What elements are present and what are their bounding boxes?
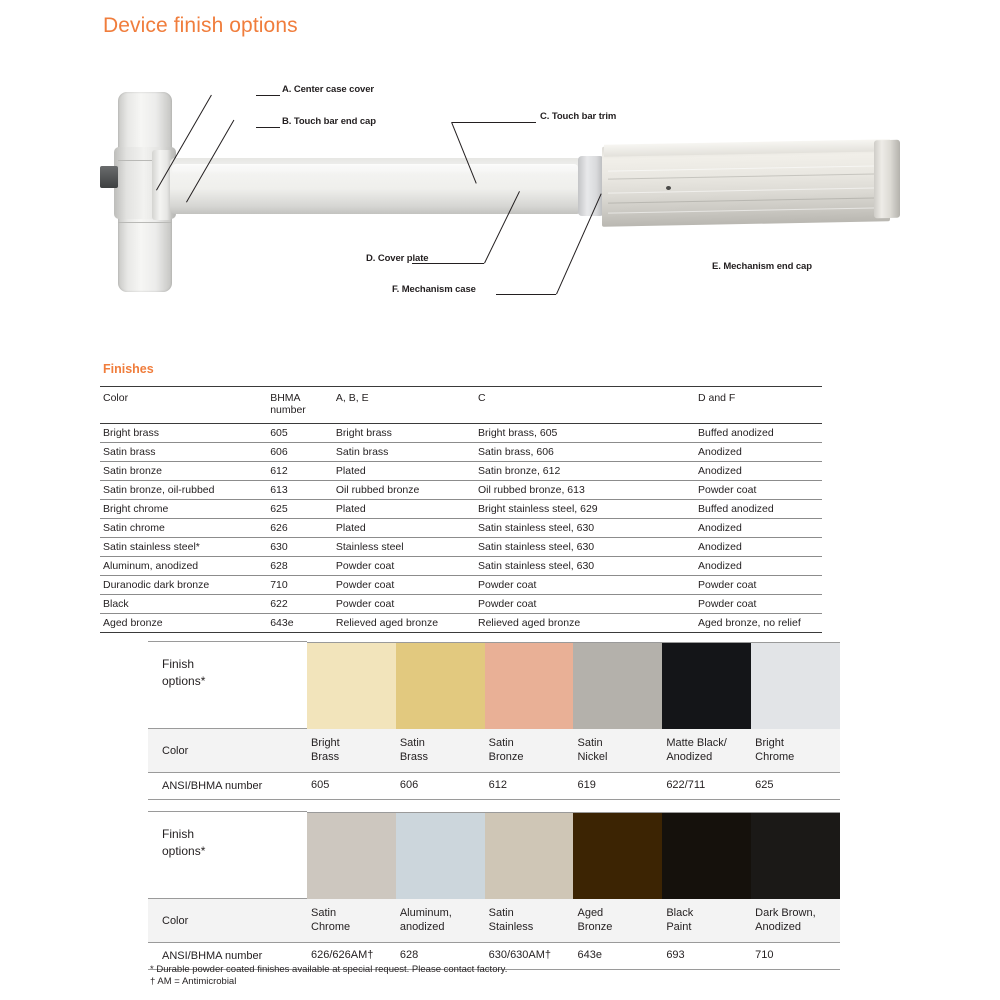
finish-ansi-number: 612 — [485, 773, 574, 799]
cell-abe: Relieved aged bronze — [333, 614, 475, 633]
cell-abe: Powder coat — [333, 576, 475, 595]
footnotes: * Durable powder coated finishes availab… — [150, 964, 507, 988]
finish-color-name: Aluminum,anodized — [396, 899, 485, 942]
finish-swatch — [751, 643, 840, 729]
finish-options-panel-2: Finish options* Color SatinChromeAluminu… — [148, 812, 840, 970]
cell-abe: Powder coat — [333, 557, 475, 576]
leader-line-c-horizontal — [452, 122, 536, 123]
lock-stub-part — [100, 166, 118, 188]
cell-c: Satin stainless steel, 630 — [475, 557, 695, 576]
column-header-bhma-line2: number — [270, 404, 306, 416]
finish-color-name-line1: Aged — [577, 906, 659, 920]
finish-color-name-line2: Stainless — [489, 920, 571, 934]
color-row-label: Color — [148, 899, 307, 942]
callout-label-f: F. Mechanism case — [392, 284, 476, 295]
finish-ansi-number: 605 — [307, 773, 396, 799]
column-header-bhma-line1: BHMA — [270, 392, 300, 404]
leader-line-b-horizontal — [256, 127, 280, 128]
footnote-asterisk: * Durable powder coated finishes availab… — [150, 964, 507, 976]
page-title: Device finish options — [103, 14, 298, 38]
finish-color-name-line2: Anodized — [755, 920, 837, 934]
cell-color: Satin chrome — [100, 519, 267, 538]
finish-color-name-line1: Satin — [489, 736, 571, 750]
cell-df: Powder coat — [695, 481, 822, 500]
panel-label-line1: Finish — [162, 656, 307, 673]
table-row: Satin bronze612PlatedSatin bronze, 612An… — [100, 462, 822, 481]
table-row: Aged bronze643eRelieved aged bronzeRelie… — [100, 614, 822, 633]
cell-abe: Satin brass — [333, 443, 475, 462]
panel-label-line2: options* — [162, 673, 307, 690]
finish-color-name: AgedBronze — [573, 899, 662, 942]
finish-options-panel-1: Finish options* Color BrightBrassSatinBr… — [148, 642, 840, 800]
callout-label-b: B. Touch bar end cap — [282, 116, 376, 127]
swatch-row: Finish options* — [148, 812, 840, 898]
finish-color-name: BrightBrass — [307, 729, 396, 772]
column-header-c: C — [475, 387, 695, 424]
finish-ansi-number: 693 — [662, 943, 751, 969]
callout-label-d: D. Cover plate — [366, 253, 428, 264]
finish-color-name-line1: Satin — [311, 906, 393, 920]
finish-color-name: Dark Brown,Anodized — [751, 899, 840, 942]
finish-color-name: SatinStainless — [485, 899, 574, 942]
cell-bhma: 643e — [267, 614, 333, 633]
cell-color: Aged bronze — [100, 614, 267, 633]
cell-bhma: 630 — [267, 538, 333, 557]
finish-color-name: SatinNickel — [573, 729, 662, 772]
cell-c: Satin brass, 606 — [475, 443, 695, 462]
finish-color-name-line1: Black — [666, 906, 748, 920]
table-row: Bright brass605Bright brassBright brass,… — [100, 424, 822, 443]
table-row: Aluminum, anodized628Powder coatSatin st… — [100, 557, 822, 576]
screw-icon — [666, 186, 671, 190]
cell-abe: Bright brass — [333, 424, 475, 443]
cell-c: Bright stainless steel, 629 — [475, 500, 695, 519]
finish-color-name-line1: Satin — [400, 736, 482, 750]
finish-color-name-line2: Nickel — [577, 750, 659, 764]
cell-df: Anodized — [695, 557, 822, 576]
cell-c: Powder coat — [475, 595, 695, 614]
table-row: Satin chrome626PlatedSatin stainless ste… — [100, 519, 822, 538]
cell-df: Aged bronze, no relief — [695, 614, 822, 633]
cell-abe: Plated — [333, 462, 475, 481]
cell-df: Anodized — [695, 519, 822, 538]
color-name-row: Color BrightBrassSatinBrassSatinBronzeSa… — [148, 728, 840, 772]
finish-color-name-line1: Dark Brown, — [755, 906, 837, 920]
finish-color-name-line2: Brass — [400, 750, 482, 764]
finish-color-name: SatinBrass — [396, 729, 485, 772]
table-row: Duranodic dark bronze710Powder coatPowde… — [100, 576, 822, 595]
finish-color-name: BlackPaint — [662, 899, 751, 942]
finish-swatch — [307, 813, 396, 899]
cell-c: Relieved aged bronze — [475, 614, 695, 633]
finish-swatch — [662, 813, 751, 899]
cell-bhma: 612 — [267, 462, 333, 481]
cell-c: Bright brass, 605 — [475, 424, 695, 443]
cell-abe: Powder coat — [333, 595, 475, 614]
cell-bhma: 626 — [267, 519, 333, 538]
cell-c: Satin stainless steel, 630 — [475, 519, 695, 538]
finish-color-name-line2: Paint — [666, 920, 748, 934]
cell-df: Powder coat — [695, 576, 822, 595]
cell-bhma: 613 — [267, 481, 333, 500]
swatch-row: Finish options* — [148, 642, 840, 728]
cell-abe: Plated — [333, 519, 475, 538]
leader-line-a-horizontal — [256, 95, 280, 96]
finish-color-name: Matte Black/Anodized — [662, 729, 751, 772]
finish-color-name-line1: Aluminum, — [400, 906, 482, 920]
finish-ansi-number: 619 — [573, 773, 662, 799]
finishes-table-body: Bright brass605Bright brassBright brass,… — [100, 424, 822, 633]
callout-label-a: A. Center case cover — [282, 84, 374, 95]
touch-bar-end-cap-part — [152, 150, 172, 220]
cell-bhma: 622 — [267, 595, 333, 614]
panel-label: Finish options* — [148, 811, 307, 898]
cell-color: Satin stainless steel* — [100, 538, 267, 557]
cell-df: Buffed anodized — [695, 500, 822, 519]
column-header-color: Color — [100, 387, 267, 424]
color-name-cells: SatinChromeAluminum,anodizedSatinStainle… — [307, 899, 840, 942]
cell-bhma: 606 — [267, 443, 333, 462]
table-row: Bright chrome625PlatedBright stainless s… — [100, 500, 822, 519]
finish-color-name-line2: Bronze — [577, 920, 659, 934]
cell-abe: Oil rubbed bronze — [333, 481, 475, 500]
ansi-row-label: ANSI/BHMA number — [148, 773, 307, 799]
table-header-row: Color BHMA number A, B, E C D and F — [100, 387, 822, 424]
finish-swatch — [573, 643, 662, 729]
cell-bhma: 628 — [267, 557, 333, 576]
callout-label-e: E. Mechanism end cap — [712, 261, 812, 272]
table-row: Satin bronze, oil-rubbed613Oil rubbed br… — [100, 481, 822, 500]
finish-color-name-line1: Satin — [577, 736, 659, 750]
cell-df: Buffed anodized — [695, 424, 822, 443]
cell-color: Black — [100, 595, 267, 614]
finish-swatch — [307, 643, 396, 729]
cell-c: Oil rubbed bronze, 613 — [475, 481, 695, 500]
color-name-row: Color SatinChromeAluminum,anodizedSatinS… — [148, 898, 840, 942]
table-row: Satin stainless steel*630Stainless steel… — [100, 538, 822, 557]
finish-swatch — [485, 813, 574, 899]
finish-ansi-number: 606 — [396, 773, 485, 799]
finish-color-name-line1: Bright — [311, 736, 393, 750]
mechanism-end-cap-part — [874, 140, 900, 218]
finish-swatch — [396, 813, 485, 899]
finish-color-name-line2: Chrome — [311, 920, 393, 934]
panel-label-line1: Finish — [162, 826, 307, 843]
column-header-df: D and F — [695, 387, 822, 424]
finish-color-name-line1: Bright — [755, 736, 837, 750]
cell-abe: Plated — [333, 500, 475, 519]
cell-color: Aluminum, anodized — [100, 557, 267, 576]
column-header-abe: A, B, E — [333, 387, 475, 424]
ansi-number-cells: 605606612619622/711625 — [307, 773, 840, 799]
table-row: Satin brass606Satin brassSatin brass, 60… — [100, 443, 822, 462]
swatch-strip — [307, 813, 840, 898]
finish-swatch — [751, 813, 840, 899]
cell-c: Powder coat — [475, 576, 695, 595]
cell-c: Satin bronze, 612 — [475, 462, 695, 481]
cell-bhma: 710 — [267, 576, 333, 595]
column-header-bhma: BHMA number — [267, 387, 333, 424]
cell-df: Anodized — [695, 443, 822, 462]
footnote-dagger: † AM = Antimicrobial — [150, 976, 507, 988]
cell-df: Anodized — [695, 538, 822, 557]
finish-swatch — [485, 643, 574, 729]
finish-color-name-line2: Anodized — [666, 750, 748, 764]
cell-color: Duranodic dark bronze — [100, 576, 267, 595]
finish-swatch — [396, 643, 485, 729]
callout-label-c: C. Touch bar trim — [540, 111, 616, 122]
cell-c: Satin stainless steel, 630 — [475, 538, 695, 557]
finish-ansi-number: 643e — [573, 943, 662, 969]
cover-plate-part — [578, 156, 604, 216]
cell-bhma: 625 — [267, 500, 333, 519]
finish-color-name-line1: Satin — [489, 906, 571, 920]
color-row-label: Color — [148, 729, 307, 772]
finish-color-name-line2: anodized — [400, 920, 482, 934]
leader-line-f-horizontal — [496, 294, 556, 295]
finish-color-name-line2: Bronze — [489, 750, 571, 764]
color-name-cells: BrightBrassSatinBrassSatinBronzeSatinNic… — [307, 729, 840, 772]
finish-ansi-number: 622/711 — [662, 773, 751, 799]
panel-label-line2: options* — [162, 843, 307, 860]
cell-bhma: 605 — [267, 424, 333, 443]
finish-color-name-line1: Matte Black/ — [666, 736, 748, 750]
device-diagram: A. Center case cover B. Touch bar end ca… — [96, 72, 896, 312]
cell-df: Powder coat — [695, 595, 822, 614]
finishes-heading: Finishes — [103, 362, 154, 376]
ansi-number-row: ANSI/BHMA number 605606612619622/711625 — [148, 772, 840, 800]
finishes-table: Color BHMA number A, B, E C D and F Brig… — [100, 386, 822, 633]
finish-ansi-number: 710 — [751, 943, 840, 969]
finish-color-name-line2: Chrome — [755, 750, 837, 764]
finishes-table-head: Color BHMA number A, B, E C D and F — [100, 387, 822, 424]
cell-color: Satin bronze — [100, 462, 267, 481]
finish-color-name: BrightChrome — [751, 729, 840, 772]
cell-color: Bright chrome — [100, 500, 267, 519]
finish-color-name: SatinBronze — [485, 729, 574, 772]
finish-swatch — [662, 643, 751, 729]
cell-color: Bright brass — [100, 424, 267, 443]
swatch-strip — [307, 643, 840, 728]
finish-ansi-number: 625 — [751, 773, 840, 799]
table-row: Black622Powder coatPowder coatPowder coa… — [100, 595, 822, 614]
cell-color: Satin bronze, oil-rubbed — [100, 481, 267, 500]
cell-abe: Stainless steel — [333, 538, 475, 557]
cell-color: Satin brass — [100, 443, 267, 462]
center-case-seam-bottom — [118, 222, 172, 223]
panel-label: Finish options* — [148, 641, 307, 728]
cell-df: Anodized — [695, 462, 822, 481]
finish-color-name: SatinChrome — [307, 899, 396, 942]
finish-swatch — [573, 813, 662, 899]
finish-color-name-line2: Brass — [311, 750, 393, 764]
touch-bar-highlight — [172, 164, 578, 174]
